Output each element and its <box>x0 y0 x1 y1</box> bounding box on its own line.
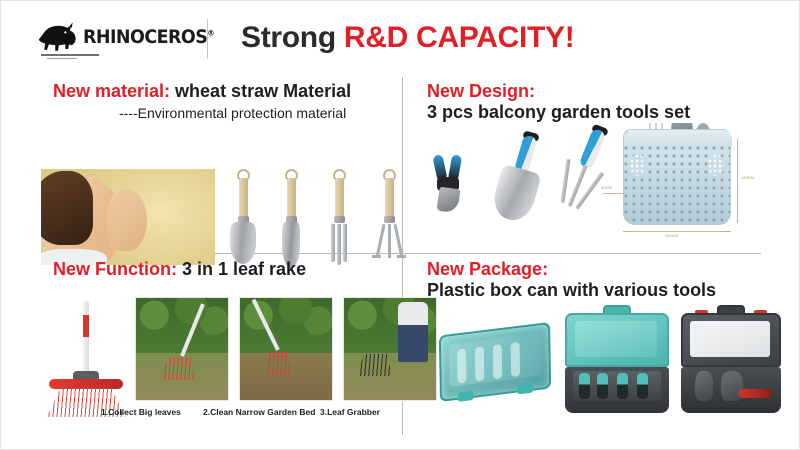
tool-fork <box>319 169 359 269</box>
logo-underline <box>41 54 99 56</box>
case-tool <box>695 371 713 401</box>
case-lid-inner <box>575 321 657 357</box>
storage-basket <box>623 129 731 225</box>
case-tool <box>617 373 628 399</box>
page-title: Strong R&D CAPACITY! <box>241 21 574 55</box>
quadrant-new-function: New Function: 3 in 1 leaf rake <box>35 259 395 435</box>
cultivator-arm <box>375 224 385 258</box>
heading-new-function: New Function: 3 in 1 leaf rake <box>53 259 395 280</box>
rake-in-use <box>264 316 304 356</box>
case-tool-red <box>739 389 771 398</box>
heading-red-package: New Package: <box>427 259 548 279</box>
brand-logo: RHINOCEROS® <box>35 18 205 56</box>
cultivator-hook <box>397 255 406 258</box>
rhinoceros-icon <box>35 18 81 56</box>
heading-new-material: New material: wheat straw Material <box>53 81 395 102</box>
photo-balcony-tools-set: 140MM 180MM 90MM <box>427 123 787 241</box>
dimension-label-height: 140MM <box>741 175 754 180</box>
case-tool <box>475 346 485 381</box>
photo-leaf-grabber <box>343 297 437 401</box>
title-red-part: R&D CAPACITY! <box>344 21 575 54</box>
photo-wheat-straw-tools <box>219 163 419 273</box>
tool-handle <box>335 178 344 218</box>
heading-dark-design: 3 pcs balcony garden tools set <box>427 102 787 123</box>
logo-underline-secondary <box>47 58 77 59</box>
cultivator-tine <box>560 159 570 203</box>
fork-tine <box>343 224 347 262</box>
case-lid-inner <box>690 321 770 357</box>
dimension-line-depth <box>603 193 625 194</box>
dimension-line-height <box>737 139 738 223</box>
basket-side-hole <box>708 154 724 176</box>
case-tool <box>511 342 521 377</box>
rake-in-use <box>162 320 202 360</box>
tool-cultivator <box>367 169 411 269</box>
trowel-scoop <box>489 164 542 225</box>
case-latch <box>517 384 533 395</box>
rake-pole <box>83 301 89 375</box>
brand-wordmark: RHINOCEROS® <box>83 26 214 48</box>
photo-leaf-rake-product <box>39 295 131 421</box>
slide-root: RHINOCEROS® Strong R&D CAPACITY! New mat… <box>0 0 800 450</box>
function-captions: 1.Collect Big leaves 2.Clean Narrow Gard… <box>35 407 395 425</box>
heading-dark-material: wheat straw Material <box>170 81 351 101</box>
tool-grip <box>578 128 606 170</box>
tool-ferrule <box>334 216 345 223</box>
photo-clean-narrow-garden-bed <box>239 297 333 401</box>
heading-red-material: New material: <box>53 81 170 101</box>
quadrant-new-material: New material: wheat straw Material ----E… <box>35 81 395 249</box>
subheading-environmental: ----Environmental protection material <box>119 105 395 121</box>
photo-hair <box>41 171 93 245</box>
dimension-label-depth: 90MM <box>601 185 612 190</box>
rake-pole-grip <box>83 315 89 337</box>
rake-in-use <box>358 338 398 378</box>
quadrant-new-design: New Design: 3 pcs balcony garden tools s… <box>427 81 787 249</box>
photo-woman-smelling-wheat <box>41 169 215 265</box>
tool-handle <box>287 178 296 218</box>
header-separator <box>207 19 208 59</box>
heading-dark-package: Plastic box can with various tools <box>427 280 787 301</box>
dimension-label-width: 180MM <box>665 233 678 238</box>
tool-handle <box>239 178 248 218</box>
basket-side-hole <box>630 154 646 176</box>
caption-clean-narrow-garden-bed: 2.Clean Narrow Garden Bed <box>203 407 315 417</box>
cultivator-arm <box>393 224 403 258</box>
case-tool <box>493 344 503 379</box>
case-teal-open <box>565 313 669 413</box>
title-dark-part: Strong <box>241 21 344 54</box>
case-gray-open <box>681 313 781 413</box>
case-tool <box>637 373 648 399</box>
case-tool <box>597 373 608 399</box>
tool-ferrule <box>384 216 395 223</box>
heading-new-package: New Package: Plastic box can with variou… <box>427 259 787 301</box>
heading-dark-function: 3 in 1 leaf rake <box>177 259 306 279</box>
tool-handle <box>385 178 394 218</box>
basket-rim <box>624 130 732 146</box>
case-latch <box>458 391 474 402</box>
photo-collect-big-leaves <box>135 297 229 401</box>
photo-person <box>398 302 428 362</box>
cultivator-arm <box>388 224 391 258</box>
cultivator-hook <box>372 255 381 258</box>
caption-leaf-grabber: 3.Leaf Grabber <box>320 407 380 417</box>
fork-tine <box>331 224 335 262</box>
case-tool <box>457 348 467 383</box>
case-tool <box>579 373 590 399</box>
tool-transplanter <box>271 169 311 269</box>
photo-tool-cases <box>427 305 787 423</box>
tool-trowel <box>223 169 263 269</box>
slide-header: RHINOCEROS® Strong R&D CAPACITY! <box>1 1 800 73</box>
caption-collect-big-leaves: 1.Collect Big leaves <box>101 407 181 417</box>
case-teal-closed <box>439 322 551 402</box>
tool-pruner <box>433 155 467 213</box>
photo-hand <box>107 189 147 251</box>
quadrant-new-package: New Package: Plastic box can with variou… <box>427 259 787 435</box>
pruner-blade <box>436 187 460 214</box>
heading-new-design: New Design: 3 pcs balcony garden tools s… <box>427 81 787 123</box>
heading-red-design: New Design: <box>427 81 535 101</box>
heading-red-function: New Function: <box>53 259 177 279</box>
tool-blade <box>230 222 256 264</box>
dimension-line-width <box>623 231 731 232</box>
